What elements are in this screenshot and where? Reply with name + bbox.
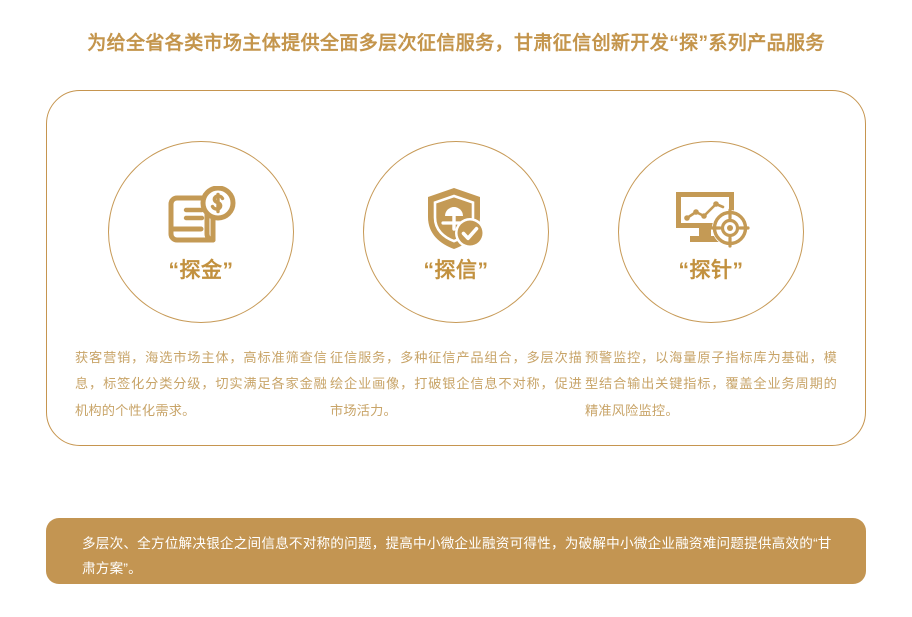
shield-check-icon: [413, 184, 499, 254]
product-column-tanzhen: “探针” 预警监控，以海量原子指标库为基础，模型结合输出关键指标，覆盖全业务周期…: [585, 91, 837, 445]
product-card: “探金” 获客营销，海选市场主体，高标准筛查信息，标签化分类分级，切实满足各家金…: [46, 90, 866, 446]
product-columns: “探金” 获客营销，海选市场主体，高标准筛查信息，标签化分类分级，切实满足各家金…: [47, 91, 865, 445]
product-circle-tanzhen[interactable]: “探针”: [618, 141, 804, 323]
product-description-tanjin: 获客营销，海选市场主体，高标准筛查信息，标签化分类分级，切实满足各家金融机构的个…: [75, 345, 327, 424]
product-column-tanjin: “探金” 获客营销，海选市场主体，高标准筛查信息，标签化分类分级，切实满足各家金…: [75, 91, 327, 445]
page-title: 为给全省各类市场主体提供全面多层次征信服务，甘肃征信创新开发“探”系列产品服务: [0, 28, 912, 55]
product-overview-page: 为给全省各类市场主体提供全面多层次征信服务，甘肃征信创新开发“探”系列产品服务: [0, 0, 912, 617]
product-label-tanjin: “探金”: [169, 260, 234, 281]
product-description-tanxin: 征信服务，多种征信产品组合，多层次描绘企业画像，打破银企信息不对称，促进市场活力…: [330, 345, 582, 424]
monitor-chart-target-icon: [668, 184, 754, 254]
product-circle-tanxin[interactable]: “探信”: [363, 141, 549, 323]
summary-banner: 多层次、全方位解决银企之间信息不对称的问题，提高中小微企业融资可得性，为破解中小…: [46, 518, 866, 584]
product-label-tanxin: “探信”: [424, 260, 489, 281]
invoice-dollar-icon: [158, 184, 244, 254]
product-label-tanzhen: “探针”: [679, 260, 744, 281]
product-column-tanxin: “探信” 征信服务，多种征信产品组合，多层次描绘企业画像，打破银企信息不对称，促…: [330, 91, 582, 445]
product-circle-tanjin[interactable]: “探金”: [108, 141, 294, 323]
product-description-tanzhen: 预警监控，以海量原子指标库为基础，模型结合输出关键指标，覆盖全业务周期的精准风险…: [585, 345, 837, 424]
